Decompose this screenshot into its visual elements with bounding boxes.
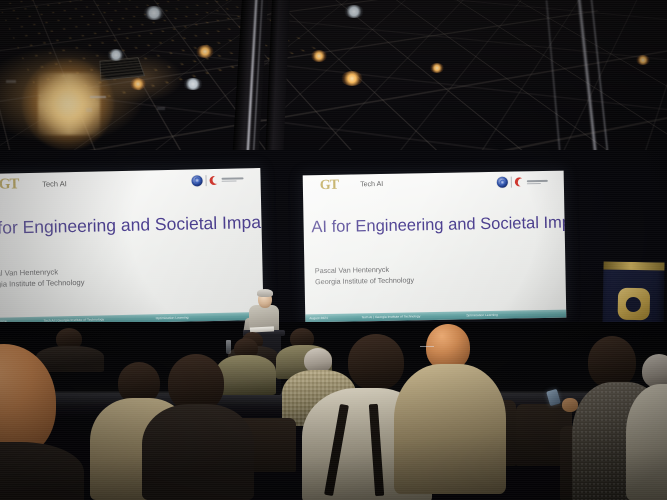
- ceiling-tile-highlight-4: [6, 80, 16, 83]
- ceiling-light-5: [130, 78, 146, 90]
- slide-title-left: AI for Engineering and Societal Impact: [0, 212, 264, 240]
- water-bottle: [226, 340, 231, 354]
- slide-footer-right-center-text: Tech AI | Georgia Institute of Technolog…: [361, 314, 465, 320]
- gt-logo-text-right: GT: [320, 178, 339, 193]
- head: [642, 354, 667, 388]
- shoulders: [0, 442, 84, 500]
- ceiling-light-3: [344, 5, 364, 18]
- ceiling-tile-highlight-3: [157, 107, 165, 110]
- banner-top-bar: [603, 261, 664, 270]
- slide-presenter-left: Pascal Van Hentenryck Georgia Institute …: [0, 266, 85, 290]
- photo-scene: GT Tech AI AI for Engineering and Societ…: [0, 0, 667, 500]
- ceiling-light-10: [636, 55, 650, 65]
- projection-screen-left: GT Tech AI AI for Engineering and Societ…: [0, 168, 264, 326]
- university-seal-icon-left: [192, 175, 203, 186]
- slide-presenter-right: Pascal Van Hentenryck Georgia Institute …: [315, 265, 414, 288]
- logo-divider-right: [511, 177, 512, 188]
- slide-footer-right-right-text: Optimization Learning: [466, 312, 550, 317]
- gt-logo-right: GT: [320, 179, 338, 193]
- audience: [0, 330, 667, 500]
- slide-footer-right-left-text: August 2024: [309, 316, 361, 321]
- ceiling-light-4: [196, 45, 214, 58]
- logo-divider-left: [206, 175, 207, 186]
- slide-header-left: GT Tech AI: [0, 168, 261, 200]
- gt-logo-left: GT: [0, 178, 19, 193]
- partner-logos-left: [192, 174, 244, 186]
- ceiling-tile-highlight-2: [86, 108, 92, 112]
- university-seal-icon-right: [497, 177, 508, 188]
- ceiling-light-9: [430, 63, 444, 73]
- ceiling-light-1: [143, 6, 165, 20]
- ceiling-tile-highlight-1: [90, 96, 106, 98]
- crescent-logo-icon-left: [210, 176, 219, 185]
- slide-surface-right: GT Tech AI AI for Engineering and Societ…: [303, 171, 567, 323]
- slide-title-right: AI for Engineering and Societal Impact: [311, 213, 566, 237]
- shoulders: [394, 364, 506, 494]
- presenter-affiliation-left: Georgia Institute of Technology: [0, 277, 85, 290]
- head: [348, 334, 404, 390]
- shoulders: [142, 404, 254, 500]
- gt-logo-text: GT: [0, 177, 19, 193]
- head: [588, 336, 636, 388]
- lens-flare: [38, 73, 100, 135]
- ceiling: [0, 0, 667, 175]
- hand: [562, 398, 578, 412]
- partner-logos-right: [497, 176, 548, 188]
- ceiling-light-7: [311, 50, 327, 62]
- ntnu-logo-icon: [617, 288, 650, 321]
- projection-screen-right: GT Tech AI AI for Engineering and Societ…: [303, 171, 567, 323]
- presenter-affiliation-right: Georgia Institute of Technology: [315, 275, 414, 287]
- eyeglasses-icon: [420, 346, 434, 350]
- crescent-logo-icon-right: [515, 178, 524, 187]
- ceiling-light-8: [341, 71, 363, 86]
- slide-footer-right-text: Optimization Learning: [156, 315, 246, 321]
- shoulders: [216, 355, 276, 395]
- slide-surface-left: GT Tech AI AI for Engineering and Societ…: [0, 168, 264, 326]
- partner-wordmark-right: [527, 180, 548, 184]
- ceiling-light-2: [107, 49, 125, 61]
- slide-header-right: GT Tech AI: [303, 171, 564, 201]
- ceiling-light-6: [183, 78, 203, 90]
- speaker-hair: [257, 289, 273, 297]
- partner-wordmark-left: [222, 178, 244, 182]
- tech-ai-label-right: Tech AI: [360, 181, 383, 188]
- tech-ai-label-left: Tech AI: [42, 179, 67, 189]
